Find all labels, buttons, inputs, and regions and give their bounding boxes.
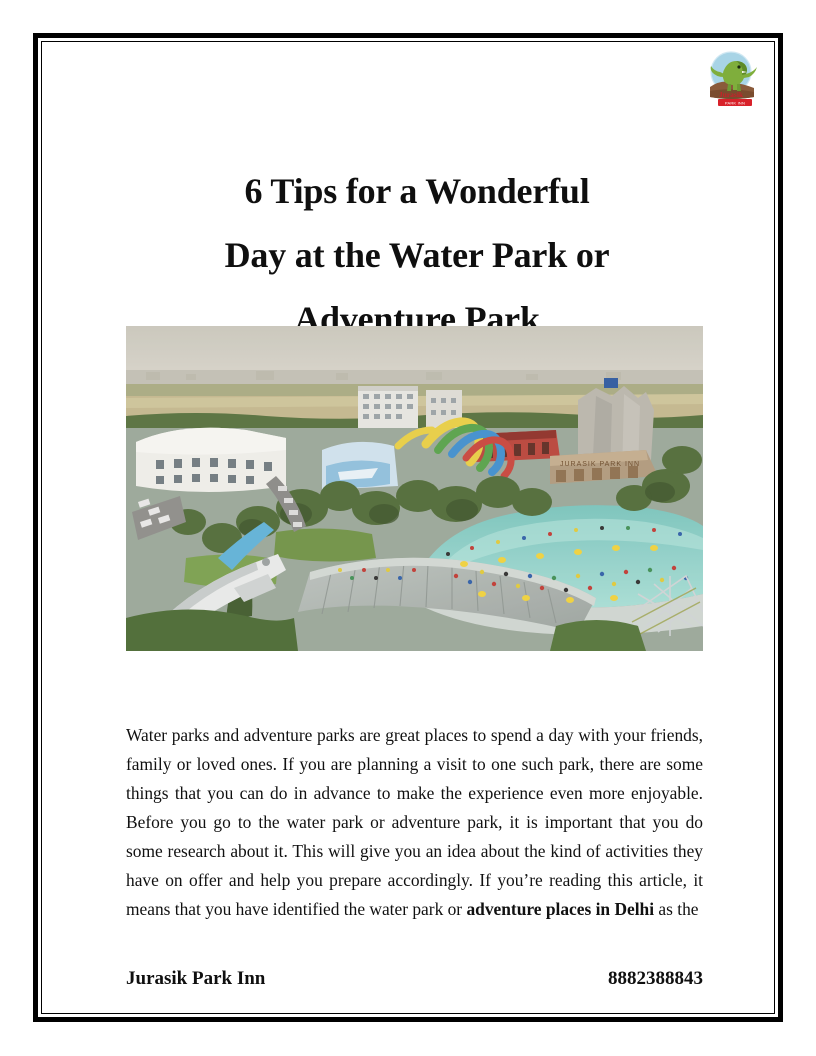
body-bold-phrase: adventure places in Delhi bbox=[466, 899, 654, 919]
body-text-before-bold: Water parks and adventure parks are grea… bbox=[126, 725, 703, 919]
svg-text:Jurasik: Jurasik bbox=[719, 90, 744, 99]
footer-phone: 8882388843 bbox=[608, 968, 703, 990]
aerial-photo-water-park: JURASIK PARK INN bbox=[126, 326, 703, 651]
page-title: 6 Tips for a Wonderful Day at the Water … bbox=[124, 159, 710, 351]
page-content: Jurasik PARK INN 6 Tips for a Wonderful … bbox=[42, 42, 774, 1013]
body-text-after-bold: as the bbox=[654, 899, 698, 919]
body-paragraph: Water parks and adventure parks are grea… bbox=[126, 721, 703, 924]
svg-text:PARK INN: PARK INN bbox=[725, 100, 745, 105]
jurasik-park-inn-logo: Jurasik PARK INN bbox=[704, 47, 760, 109]
page-frame-inner-border: Jurasik PARK INN 6 Tips for a Wonderful … bbox=[41, 41, 775, 1014]
page-footer: Jurasik Park Inn 8882388843 bbox=[126, 968, 703, 990]
page-title-line-2: Day at the Water Park or bbox=[225, 235, 610, 275]
page-frame: Jurasik PARK INN 6 Tips for a Wonderful … bbox=[33, 33, 783, 1022]
page-title-line-1: 6 Tips for a Wonderful bbox=[244, 171, 589, 211]
footer-brand: Jurasik Park Inn bbox=[126, 968, 265, 990]
